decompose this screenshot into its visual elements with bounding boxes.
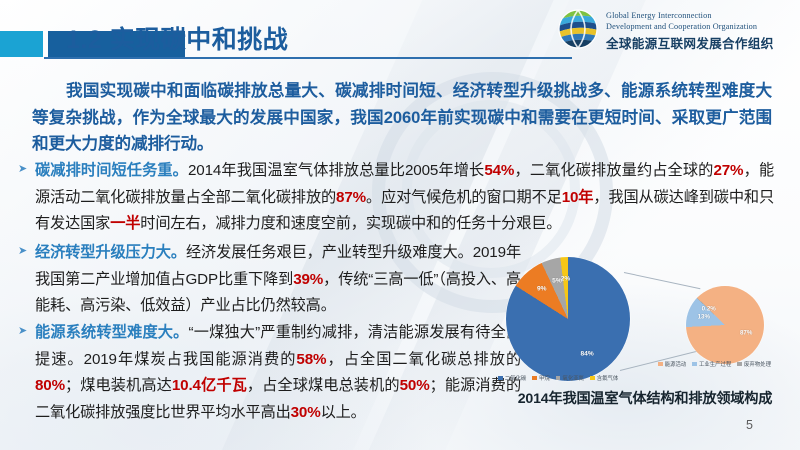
pie-slice-label: 13%	[698, 314, 710, 321]
pie-slice-label: 9%	[537, 286, 547, 293]
legend-label: 含氟气体	[597, 374, 619, 382]
bullet-lead-2: 经济转型升级压力大。	[35, 244, 186, 261]
bullet-body-1: 碳减排时间短任务重。2014年我国温室气体排放总量比2005年增长54%，二氧化…	[35, 158, 774, 238]
legend-label: 废弃物处理	[744, 360, 771, 368]
legend-label: 甲烷	[539, 374, 550, 382]
arrow-bullet-icon: ➤	[18, 242, 27, 260]
organization-logo-block: Global Energy Interconnection Developmen…	[556, 3, 800, 55]
highlight-value: 27%	[713, 162, 743, 179]
legend-item: 氧化亚氮	[556, 374, 584, 382]
slide-header: 1.2 实现碳中和挑战 Global Energy I	[0, 0, 800, 60]
legend-swatch	[590, 376, 595, 381]
chart-leader-line-top	[624, 272, 701, 289]
highlight-value: 10.4亿千瓦	[172, 377, 247, 394]
bullet-item-3: ➤ 能源系统转型难度大。“一煤独大”严重制约减排，清洁能源发展有待全面提速。20…	[18, 320, 518, 426]
bullet-text: ；煤电装机高达	[65, 377, 172, 394]
legend-swatch	[737, 362, 742, 367]
highlight-value: 39%	[293, 271, 323, 288]
bullet-item-1: ➤ 碳减排时间短任务重。2014年我国温室气体排放总量比2005年增长54%，二…	[18, 158, 774, 238]
bullet-text: 。应对气候危机的窗口期不足	[366, 189, 562, 206]
highlight-value: 30%	[291, 404, 321, 421]
legend-swatch	[556, 376, 561, 381]
header-accent-cyan	[0, 31, 43, 57]
highlight-value: 87%	[336, 189, 366, 206]
logo-english-line-1: Global Energy Interconnection	[606, 11, 712, 20]
page-title: 1.2 实现碳中和挑战	[66, 20, 288, 56]
bullet-lead-3: 能源系统转型难度大。	[35, 324, 189, 341]
chart-caption: 2014年我国温室气体结构和排放领域构成	[492, 388, 798, 408]
highlight-value: 80%	[35, 377, 65, 394]
bullet-text: 时间左右，减排力度和速度空前，实现碳中和的任务十分艰巨。	[140, 215, 561, 232]
legend-item: 含氟气体	[590, 374, 618, 382]
bullet-text: ，二氧化碳排放量约占全球的	[514, 162, 713, 179]
page-number: 5	[746, 418, 753, 432]
legend-swatch	[498, 376, 503, 381]
bullet-body-2: 经济转型升级压力大。经济发展任务艰巨，产业转型升级难度大。2019年我国第二产业…	[35, 240, 521, 320]
arrow-bullet-icon: ➤	[18, 160, 27, 178]
pie-slice-label: 2%	[561, 276, 571, 283]
arrow-bullet-icon: ➤	[18, 322, 27, 340]
legend-label: 氧化亚氮	[562, 374, 584, 382]
intro-paragraph: 我国实现碳中和面临碳排放总量大、碳减排时间短、经济转型升级挑战多、能源系统转型难…	[32, 78, 772, 158]
legend-swatch	[658, 362, 663, 367]
legend-item: 能源活动	[658, 360, 686, 368]
logo-chinese-name: 全球能源互联网发展合作组织	[606, 33, 774, 52]
legend-item: 甲烷	[532, 374, 549, 382]
title-underline	[44, 57, 572, 59]
legend-item: 废弃物处理	[737, 360, 771, 368]
pie-chart-emission-sector: 87%13%0.2%	[686, 286, 764, 364]
bullet-item-2: ➤ 经济转型升级压力大。经济发展任务艰巨，产业转型升级难度大。2019年我国第二…	[18, 240, 518, 320]
highlight-value: 54%	[484, 162, 514, 179]
globe-logo-icon	[556, 7, 600, 51]
legend-item: 二氧化碳	[498, 374, 526, 382]
bullet-text: ，占全球煤电总装机的	[247, 377, 400, 394]
bullet-lead-1: 碳减排时间短任务重。	[35, 162, 188, 179]
pie-slice-label: 0.2%	[702, 306, 716, 313]
bullet-text: 以上。	[321, 404, 366, 421]
bullet-text: 2014年我国温室气体排放总量比2005年增长	[188, 162, 484, 179]
legend-emission-sector: 能源活动工业生产过程废弃物处理	[658, 360, 771, 368]
highlight-value: 10年	[562, 189, 594, 206]
highlight-value: 58%	[296, 351, 326, 368]
bullet-body-3: 能源系统转型难度大。“一煤独大”严重制约减排，清洁能源发展有待全面提速。2019…	[35, 320, 521, 426]
legend-swatch	[532, 376, 537, 381]
legend-label: 工业生产过程	[699, 360, 731, 368]
chart-panel: 84%9%5%2% 87%13%0.2% 二氧化碳甲烷氧化亚氮含氟气体 能源活动…	[492, 250, 798, 422]
logo-english-line-2: Development and Cooperation Organization	[606, 22, 757, 31]
pie-chart-greenhouse-gas: 84%9%5%2%	[506, 257, 630, 381]
highlight-value: 一半	[110, 215, 140, 232]
pie-slice-label: 87%	[740, 329, 752, 336]
legend-swatch	[692, 362, 697, 367]
legend-label: 能源活动	[665, 360, 687, 368]
slide-canvas: 1.2 实现碳中和挑战 Global Energy I	[0, 0, 800, 450]
legend-greenhouse-gas: 二氧化碳甲烷氧化亚氮含氟气体	[498, 374, 618, 382]
legend-item: 工业生产过程	[692, 360, 731, 368]
pie-slice-label: 84%	[581, 350, 594, 357]
legend-label: 二氧化碳	[505, 374, 527, 382]
highlight-value: 50%	[400, 377, 430, 394]
